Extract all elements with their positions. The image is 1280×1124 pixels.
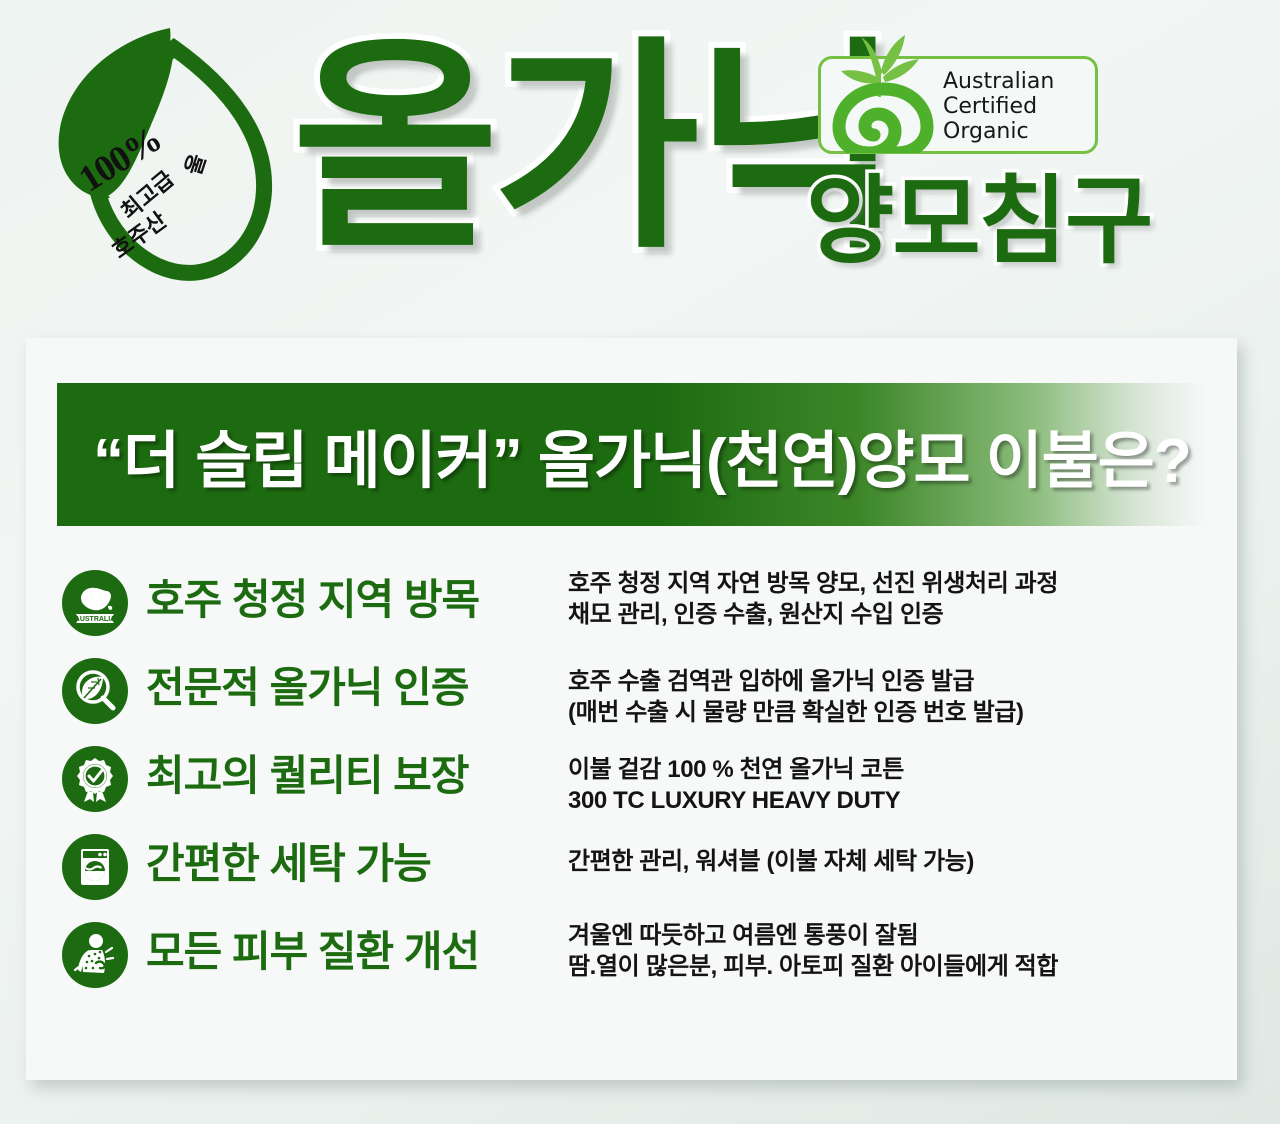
feature-desc-line: 간편한 관리, 워셔블 (이불 자체 세탁 가능) — [568, 846, 974, 877]
feature-row: 간편한 세탁 가능 간편한 관리, 워셔블 (이불 자체 세탁 가능) — [26, 832, 1237, 920]
feature-desc-line: (매번 수출 시 물량 만큼 확실한 인증 번호 발급) — [568, 697, 1024, 728]
feature-desc-line: 겨울엔 따듯하고 여름엔 통풍이 잘됨 — [568, 920, 1058, 951]
leaf-magnifier-glyph — [70, 666, 120, 716]
feature-row: 모든 피부 질환 개선 겨울엔 따듯하고 여름엔 통풍이 잘됨 땀.열이 많은분… — [26, 920, 1237, 1008]
headline-banner-text: “더 슬립 메이커” 올가닉(천연)양모 이불은? — [93, 410, 1191, 500]
feature-desc-line: 호주 수출 검역관 입하에 올가닉 인증 발급 — [568, 666, 1024, 697]
feature-title: 호주 청정 지역 방목 — [146, 571, 479, 629]
australia-map-glyph: AUSTRALIA — [70, 578, 120, 628]
leaf-magnifier-icon — [62, 658, 128, 724]
feature-row: AUSTRALIA 호주 청정 지역 방목 호주 청정 지역 자연 방목 양모,… — [26, 568, 1237, 656]
washing-machine-glyph — [70, 842, 120, 892]
header: 100% 최고급 울 호주산 올가닉 Australian Certified … — [0, 0, 1280, 330]
aco-line-2: Certified — [943, 94, 1054, 119]
leaf-droplet-icon — [24, 10, 284, 300]
washing-machine-icon — [62, 834, 128, 900]
feature-description: 겨울엔 따듯하고 여름엔 통풍이 잘됨 땀.열이 많은분, 피부. 아토피 질환… — [568, 920, 1058, 982]
aco-line-1: Australian — [943, 69, 1054, 94]
feature-desc-line: 채모 관리, 인증 수출, 원산지 수입 인증 — [568, 599, 1058, 630]
feature-title: 간편한 세탁 가능 — [146, 835, 431, 893]
aco-line-3: Organic — [943, 119, 1054, 144]
svg-text:AUSTRALIA: AUSTRALIA — [75, 616, 115, 623]
feature-description: 간편한 관리, 워셔블 (이불 자체 세탁 가능) — [568, 846, 974, 877]
feature-title: 모든 피부 질환 개선 — [146, 923, 479, 981]
feature-desc-line: 땀.열이 많은분, 피부. 아토피 질환 아이들에게 적합 — [568, 951, 1058, 982]
australia-map-icon: AUSTRALIA — [62, 570, 128, 636]
content-card: “더 슬립 메이커” 올가닉(천연)양모 이불은? AUSTRALIA 호주 청… — [26, 338, 1237, 1080]
feature-description: 호주 청정 지역 자연 방목 양모, 선진 위생처리 과정 채모 관리, 인증 … — [568, 568, 1058, 630]
feature-list: AUSTRALIA 호주 청정 지역 방목 호주 청정 지역 자연 방목 양모,… — [26, 568, 1237, 1008]
feature-desc-line: 호주 청정 지역 자연 방목 양모, 선진 위생처리 과정 — [568, 568, 1058, 599]
headline-banner: “더 슬립 메이커” 올가닉(천연)양모 이불은? — [57, 383, 1207, 526]
feature-desc-line: 300 TC LUXURY HEAVY DUTY — [568, 785, 904, 816]
skin-condition-icon — [62, 922, 128, 988]
feature-desc-line: 이불 겉감 100 % 천연 올가닉 코튼 — [568, 754, 904, 785]
skin-condition-glyph — [70, 930, 120, 980]
organic-leaf-badge: 100% 최고급 울 호주산 — [24, 10, 284, 300]
award-ribbon-icon — [62, 746, 128, 812]
main-title: 올가닉 — [292, 36, 895, 261]
feature-title: 최고의 퀄리티 보장 — [146, 747, 468, 805]
feature-row: 최고의 퀄리티 보장 이불 겉감 100 % 천연 올가닉 코튼 300 TC … — [26, 744, 1237, 832]
feature-row: 전문적 올가닉 인증 호주 수출 검역관 입하에 올가닉 인증 발급 (매번 수… — [26, 656, 1237, 744]
feature-title: 전문적 올가닉 인증 — [146, 659, 468, 717]
aco-swirl-leaf-icon — [827, 27, 939, 153]
aco-wordmark: Australian Certified Organic — [943, 69, 1054, 144]
feature-description: 호주 수출 검역관 입하에 올가닉 인증 발급 (매번 수출 시 물량 만큼 확… — [568, 666, 1024, 728]
sub-title: 양모침구 — [806, 172, 1151, 272]
australian-certified-organic-mark: Australian Certified Organic — [818, 56, 1098, 154]
award-ribbon-glyph — [70, 754, 120, 804]
feature-description: 이불 겉감 100 % 천연 올가닉 코튼 300 TC LUXURY HEAV… — [568, 754, 904, 816]
